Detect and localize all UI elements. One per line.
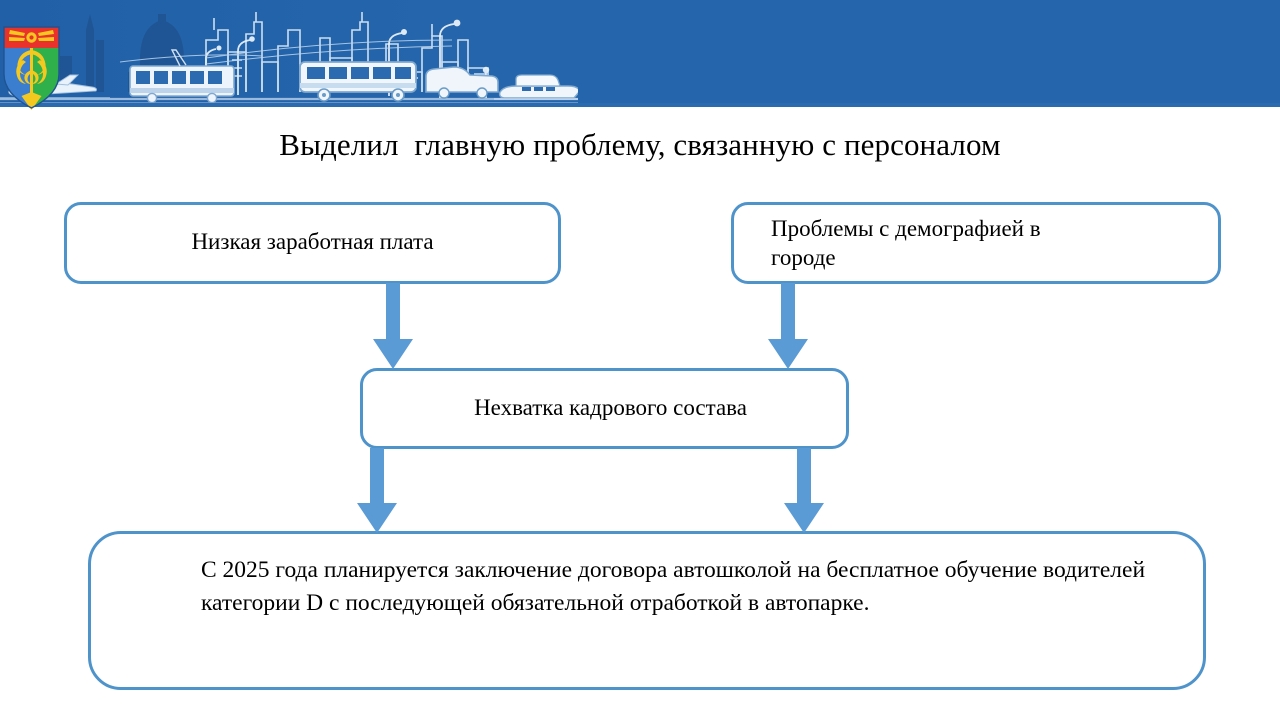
header-banner (0, 0, 1280, 107)
flow-box-demography-label: Проблемы с демографией в городе (734, 214, 1051, 272)
flow-box-plan[interactable]: С 2025 года планируется заключение догов… (88, 531, 1206, 690)
city-transport-skyline-illustration (0, 0, 578, 107)
coat-of-arms-emblem (3, 26, 60, 114)
flow-box-demography[interactable]: Проблемы с демографией в городе (731, 202, 1221, 284)
arrow-down-icon-demography-to-shortage (768, 283, 808, 369)
page-title: Выделил главную проблему, связанную с пе… (0, 127, 1280, 163)
flow-box-plan-label: С 2025 года планируется заключение догов… (91, 534, 1203, 621)
flow-box-low-salary[interactable]: Низкая заработная плата (64, 202, 561, 284)
arrow-down-icon-shortage-to-plan-left (357, 448, 397, 533)
arrow-down-icon-salary-to-shortage (373, 283, 413, 369)
flow-box-staff-shortage-label: Нехватка кадрового состава (462, 393, 747, 424)
flow-box-low-salary-label: Низкая заработная плата (191, 227, 433, 258)
header-bottom-strip (0, 103, 1280, 107)
arrow-down-icon-shortage-to-plan-right (784, 448, 824, 533)
flow-box-staff-shortage[interactable]: Нехватка кадрового состава (360, 368, 849, 449)
